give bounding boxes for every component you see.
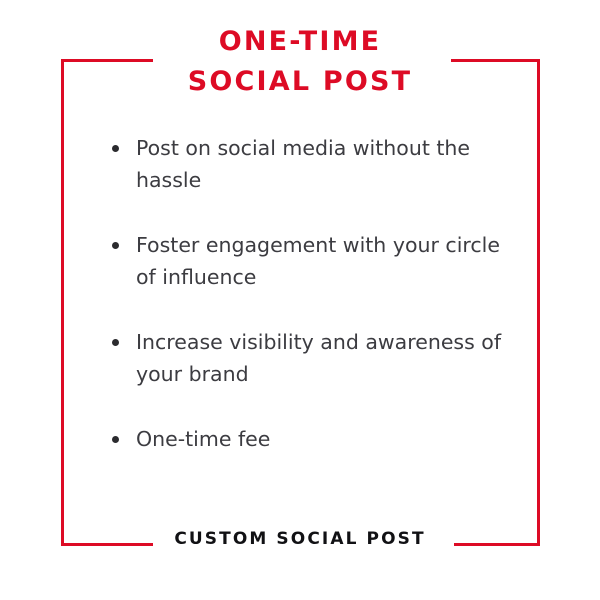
bullet-dot-icon	[112, 339, 119, 346]
frame-segment-left	[61, 59, 64, 546]
title-line-2: SOCIAL POST	[0, 62, 600, 102]
footer-caption-label: CUSTOM SOCIAL POST	[160, 526, 439, 552]
footer-caption: CUSTOM SOCIAL POST	[0, 526, 600, 552]
list-item: Foster engagement with your circle of in…	[104, 229, 516, 293]
list-item-label: Foster engagement with your circle of in…	[136, 233, 500, 289]
list-item: Post on social media without the hassle	[104, 132, 516, 196]
list-item-label: One-time fee	[136, 427, 270, 451]
bullet-dot-icon	[112, 436, 119, 443]
bullet-dot-icon	[112, 145, 119, 152]
page-title: ONE-TIME SOCIAL POST	[0, 22, 600, 102]
social-post-card: ONE-TIME SOCIAL POST Post on social medi…	[0, 0, 600, 600]
list-item: One-time fee	[104, 423, 516, 455]
feature-list: Post on social media without the hassle …	[104, 132, 516, 455]
list-item-label: Post on social media without the hassle	[136, 136, 470, 192]
bullet-dot-icon	[112, 242, 119, 249]
list-item: Increase visibility and awareness of you…	[104, 326, 516, 390]
title-line-1: ONE-TIME	[0, 22, 600, 62]
frame-segment-right	[537, 59, 540, 546]
list-item-label: Increase visibility and awareness of you…	[136, 330, 501, 386]
